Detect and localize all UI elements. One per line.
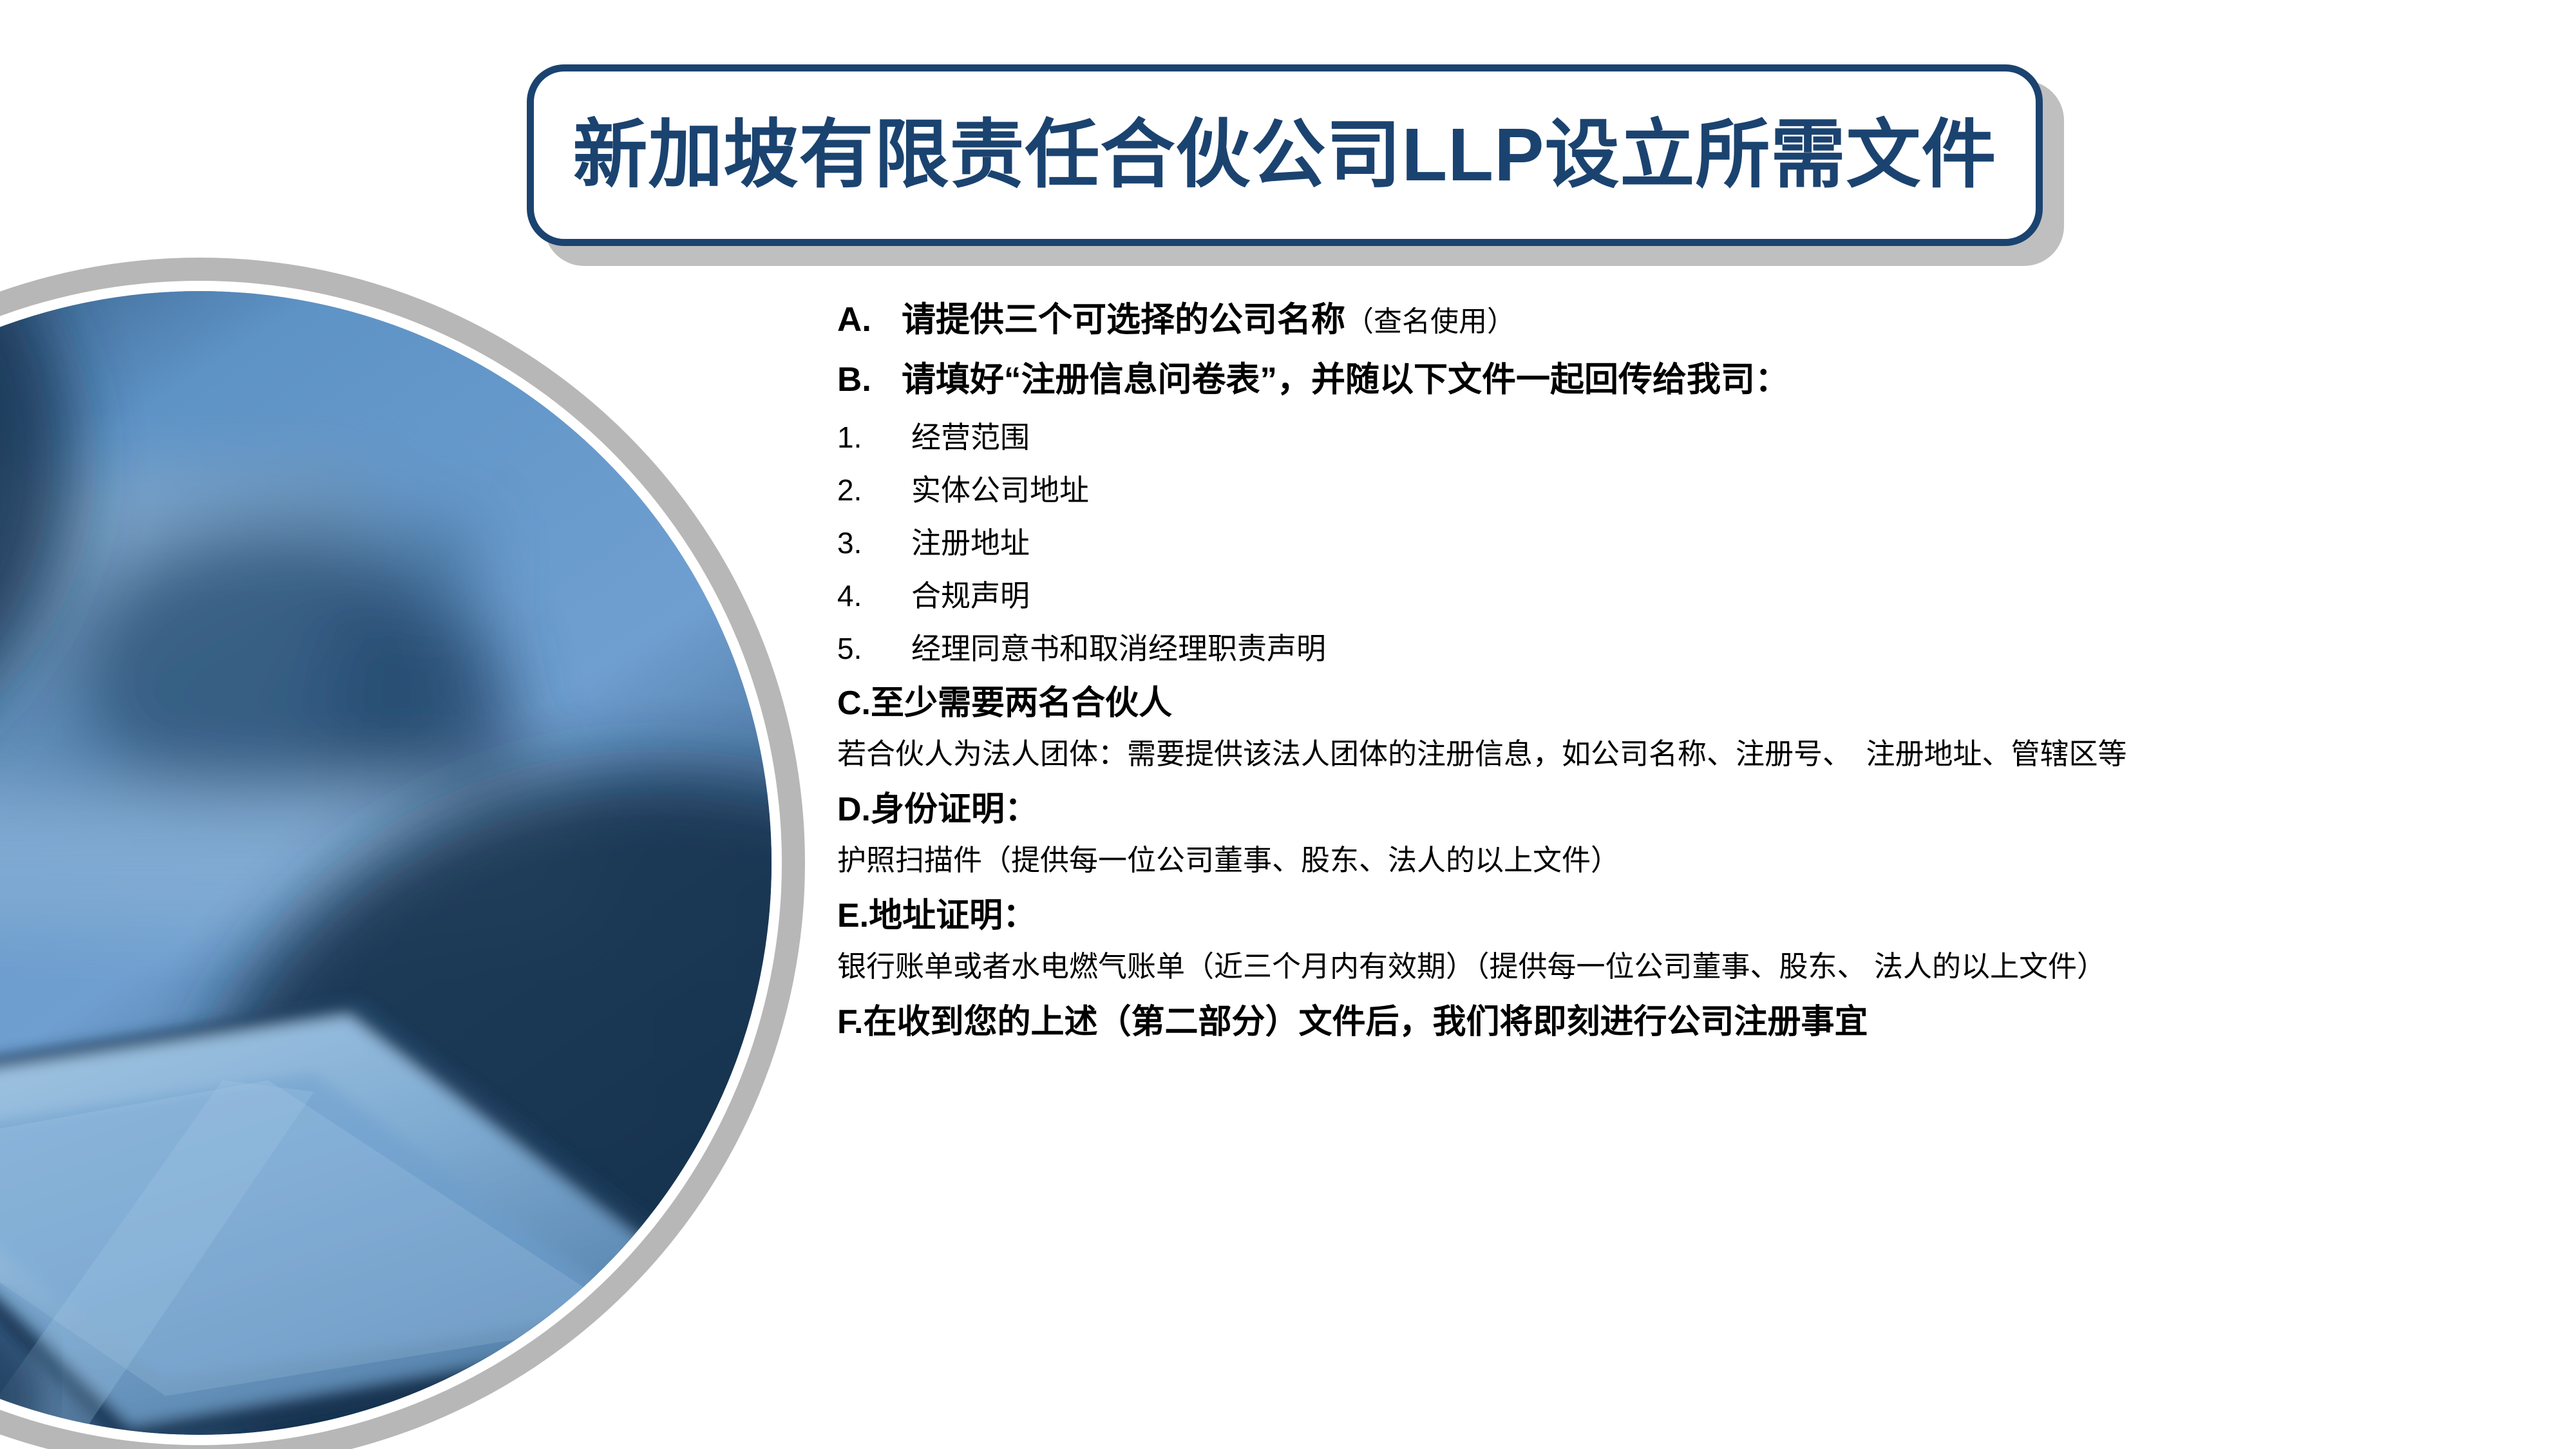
list-item-b: B. 请填好“注册信息问卷表”，并随以下文件一起回传给我司： — [837, 363, 2570, 397]
slide-canvas: 新加坡有限责任合伙公司LLP设立所需文件 — [0, 0, 2576, 1449]
item-b-marker: B. — [837, 363, 902, 397]
item-a-text: 请提供三个可选择的公司名称 — [902, 303, 1345, 337]
list-item-4: 4. 合规声明 — [837, 581, 2570, 611]
list-item-a: A. 请提供三个可选择的公司名称 （查名使用） — [837, 303, 2570, 337]
item-2-text: 实体公司地址 — [911, 475, 1089, 505]
item-a-marker: A. — [837, 303, 902, 337]
item-5-marker: 5. — [837, 634, 911, 663]
item-e-heading: E.地址证明： — [837, 899, 2570, 933]
list-item-1: 1. 经营范围 — [837, 422, 2570, 452]
item-5-text: 经理同意书和取消经理职责声明 — [911, 634, 1326, 663]
item-1-text: 经营范围 — [911, 422, 1030, 452]
item-d-heading: D.身份证明： — [837, 793, 2570, 826]
document-content: A. 请提供三个可选择的公司名称 （查名使用） B. 请填好“注册信息问卷表”，… — [837, 303, 2570, 1061]
item-c-heading: C.至少需要两名合伙人 — [837, 687, 2570, 720]
item-a-note: （查名使用） — [1345, 308, 1515, 336]
circular-photo — [0, 291, 772, 1435]
list-item-2: 2. 实体公司地址 — [837, 475, 2570, 505]
item-3-marker: 3. — [837, 528, 911, 558]
item-e-body: 银行账单或者水电燃气账单（近三个月内有效期）（提供每一位公司董事、股东、 法人的… — [837, 952, 2570, 981]
title-box: 新加坡有限责任合伙公司LLP设立所需文件 — [527, 64, 2043, 246]
tablet-hand-photo-art — [0, 291, 772, 1435]
item-b-text: 请填好“注册信息问卷表”，并随以下文件一起回传给我司： — [902, 363, 1789, 397]
item-d-body: 护照扫描件（提供每一位公司董事、股东、法人的以上文件） — [837, 846, 2570, 875]
item-3-text: 注册地址 — [911, 528, 1030, 558]
page-title: 新加坡有限责任合伙公司LLP设立所需文件 — [573, 114, 1996, 196]
item-c-body: 若合伙人为法人团体：需要提供该法人团体的注册信息，如公司名称、注册号、 注册地址… — [837, 739, 2570, 768]
item-1-marker: 1. — [837, 422, 911, 452]
item-2-marker: 2. — [837, 475, 911, 505]
list-item-3: 3. 注册地址 — [837, 528, 2570, 558]
item-4-marker: 4. — [837, 581, 911, 611]
list-item-5: 5. 经理同意书和取消经理职责声明 — [837, 634, 2570, 663]
item-f-heading: F.在收到您的上述（第二部分）文件后，我们将即刻进行公司注册事宜 — [837, 1005, 2570, 1039]
circular-photo-frame — [0, 258, 805, 1449]
item-4-text: 合规声明 — [911, 581, 1030, 611]
